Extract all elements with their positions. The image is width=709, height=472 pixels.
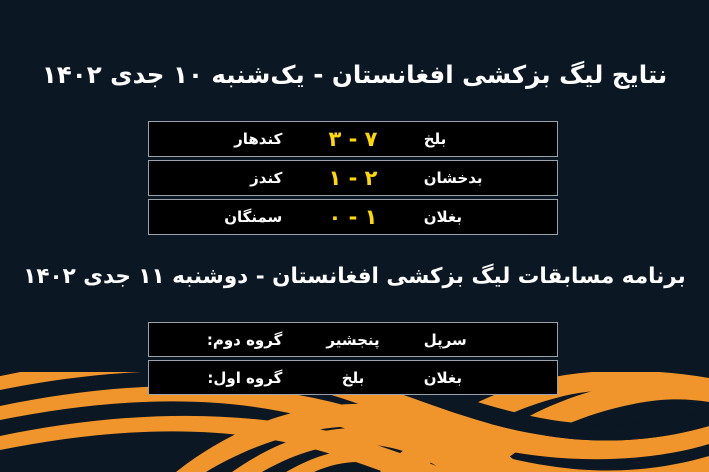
match-score: ۷ - ۳ [296,122,409,156]
schedule-team-a: پنجشیر [296,323,409,356]
schedule-heading: برنامه مسابقات لیگ بزکشی افغانستان - دوش… [0,261,709,293]
table-row: بغلان ۱ - ۰ سمنگان [148,199,558,235]
home-team-name: کندهار [149,122,296,156]
schedule-table: سرپل پنجشیر گروه دوم: بغلان بلخ گروه اول… [148,322,558,395]
away-team-name: بدخشان [410,161,557,195]
results-table: بلخ ۷ - ۳ کندهار بدخشان ۲ - ۱ کندز بغلان… [148,121,558,235]
table-row: بلخ ۷ - ۳ کندهار [148,121,558,157]
schedule-group-label: گروه اول: [149,361,296,394]
match-score: ۱ - ۰ [296,200,409,234]
table-row: بدخشان ۲ - ۱ کندز [148,160,558,196]
home-team-name: کندز [149,161,296,195]
schedule-team-a: بلخ [296,361,409,394]
home-team-name: سمنگان [149,200,296,234]
schedule-team-b: بغلان [410,361,557,394]
schedule-group-label: گروه دوم: [149,323,296,356]
table-row: بغلان بلخ گروه اول: [148,360,558,395]
away-team-name: بغلان [410,200,557,234]
away-team-name: بلخ [410,122,557,156]
poster-canvas: نتایج لیگ بزکشی افغانستان - یک‌شنبه ۱۰ ج… [0,0,709,472]
table-row: سرپل پنجشیر گروه دوم: [148,322,558,357]
match-score: ۲ - ۱ [296,161,409,195]
results-heading: نتایج لیگ بزکشی افغانستان - یک‌شنبه ۱۰ ج… [0,58,709,92]
schedule-team-b: سرپل [410,323,557,356]
